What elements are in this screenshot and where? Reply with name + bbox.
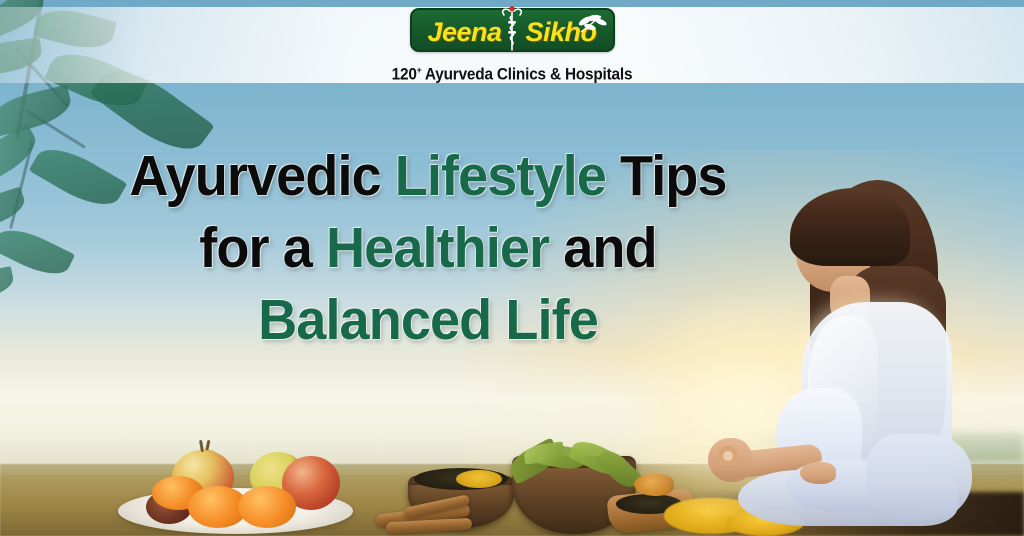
headline-word-and: and: [549, 216, 657, 280]
hips: [866, 434, 972, 520]
leaf-icon: [0, 84, 75, 137]
yellow-spice: [456, 470, 502, 488]
headline-line-2: for a Healthier and: [21, 212, 834, 284]
headline-word-tips: Tips: [606, 144, 727, 208]
brand-tagline: 120+ Ayurveda Clinics & Hospitals: [377, 61, 647, 85]
headline-word-lifestyle: Lifestyle: [395, 144, 606, 208]
caduceus-icon: [497, 4, 527, 54]
foot: [800, 462, 836, 484]
tagline-count: 120: [392, 66, 417, 84]
page-title: Ayurvedic Lifestyle Tips for a Healthier…: [21, 140, 834, 356]
tagline-text: Ayurveda Clinics & Hospitals: [421, 66, 632, 84]
logo-badge: JeenaSikho: [410, 8, 615, 52]
headline-word-ayurvedic: Ayurvedic: [129, 144, 394, 208]
leaf-icon: [577, 12, 607, 36]
headline-line-3: Balanced Life: [21, 284, 834, 356]
logo-word-jeena: Jeena: [427, 17, 501, 47]
headline-words-balanced-life: Balanced Life: [258, 288, 598, 352]
turmeric-root: [634, 474, 674, 496]
headline-words-for-a: for a: [199, 216, 326, 280]
leaf-icon: [0, 266, 16, 304]
brand-logo[interactable]: JeenaSikho 120+ Ayurveda Clinics & Hospi…: [367, 8, 657, 85]
headline-line-1: Ayurvedic Lifestyle Tips: [21, 140, 834, 212]
mudra-ring: [718, 446, 738, 466]
headline-word-healthier: Healthier: [326, 216, 549, 280]
ayurveda-banner: JeenaSikho 120+ Ayurveda Clinics & Hospi…: [0, 0, 1024, 536]
orange-right: [238, 486, 296, 528]
